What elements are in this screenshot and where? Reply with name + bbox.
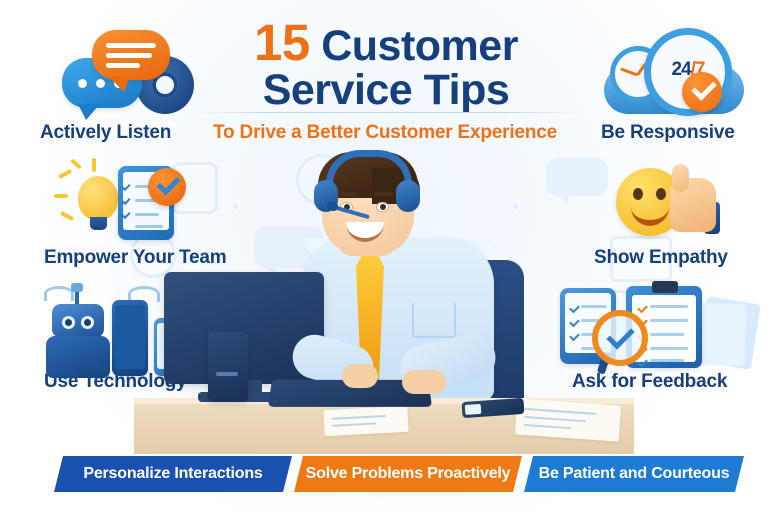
banner-be-patient-and-courteous[interactable]: Be Patient and Courteous	[524, 456, 744, 492]
smartphone-large-icon	[112, 300, 148, 376]
desk-paper	[515, 398, 621, 441]
agent-hand-left	[342, 364, 378, 388]
title-divider	[196, 112, 578, 113]
lightbulb-icon	[78, 176, 118, 220]
smiley-eye	[633, 188, 643, 200]
poster-title: 15 Customer Service Tips	[186, 18, 586, 113]
agent-eyebrow-right	[374, 192, 393, 196]
banner-solve-problems-proactively[interactable]: Solve Problems Proactively	[294, 456, 522, 492]
bulb-ray	[92, 158, 96, 172]
agent-eye-right	[376, 202, 389, 212]
speech-bubbles-gear-icon	[52, 22, 212, 118]
robot-eye	[62, 316, 75, 329]
bulb-ray	[58, 169, 72, 179]
check-mark	[121, 196, 130, 205]
check-mark	[121, 182, 130, 191]
list-line	[650, 347, 688, 350]
list-line	[650, 333, 684, 336]
poster-subtitle: To Drive a Better Customer Experience	[170, 122, 600, 144]
wifi-icon	[44, 286, 74, 301]
list-line	[650, 305, 688, 308]
tip-label-actively-listen: Actively Listen	[40, 122, 171, 144]
orange-speech-bubble-icon	[92, 30, 170, 80]
headset-earcup-right	[396, 180, 420, 212]
computer-tower	[208, 332, 248, 402]
smiley-mouth	[631, 200, 669, 226]
bulb-ray	[70, 158, 82, 169]
robot-eye	[81, 316, 94, 329]
bulb-ray	[54, 194, 68, 198]
clock-24-7-icon: 24/7	[598, 22, 758, 118]
check-badge-icon	[682, 72, 722, 112]
stacked-papers-icon	[697, 296, 761, 370]
check-mark	[637, 303, 648, 314]
title-word-customer: Customer	[321, 22, 518, 70]
robot-body	[46, 336, 110, 378]
title-number: 15	[254, 14, 310, 71]
lightbulb-base	[90, 217, 107, 230]
check-mark	[121, 210, 130, 219]
clipboard-clip	[652, 281, 678, 293]
list-line	[650, 319, 688, 322]
thumb-digit	[672, 164, 689, 192]
banner-personalize-interactions[interactable]: Personalize Interactions	[54, 456, 292, 492]
smiley-thumbs-up-icon	[600, 160, 760, 246]
infographic-poster: ✦ ✦ ✦ ✦ 15 Customer Service Tips To Driv…	[0, 0, 768, 512]
robot-antenna	[75, 290, 79, 305]
tip-label-be-responsive: Be Responsive	[601, 122, 735, 144]
shirt-pocket	[412, 302, 456, 338]
robot-head	[52, 304, 104, 338]
desk-paper	[323, 406, 408, 436]
smiley-eye	[656, 188, 666, 200]
clock-hand	[620, 67, 638, 76]
bottom-banner-row: Personalize Interactions Solve Problems …	[0, 456, 768, 496]
agent-eyebrow-left	[338, 192, 357, 196]
bulb-ray	[60, 211, 74, 221]
agent-hand-right	[402, 370, 446, 394]
list-line	[650, 359, 684, 362]
customer-service-agent-scene	[150, 152, 616, 452]
title-line-two: Service Tips	[186, 68, 586, 112]
